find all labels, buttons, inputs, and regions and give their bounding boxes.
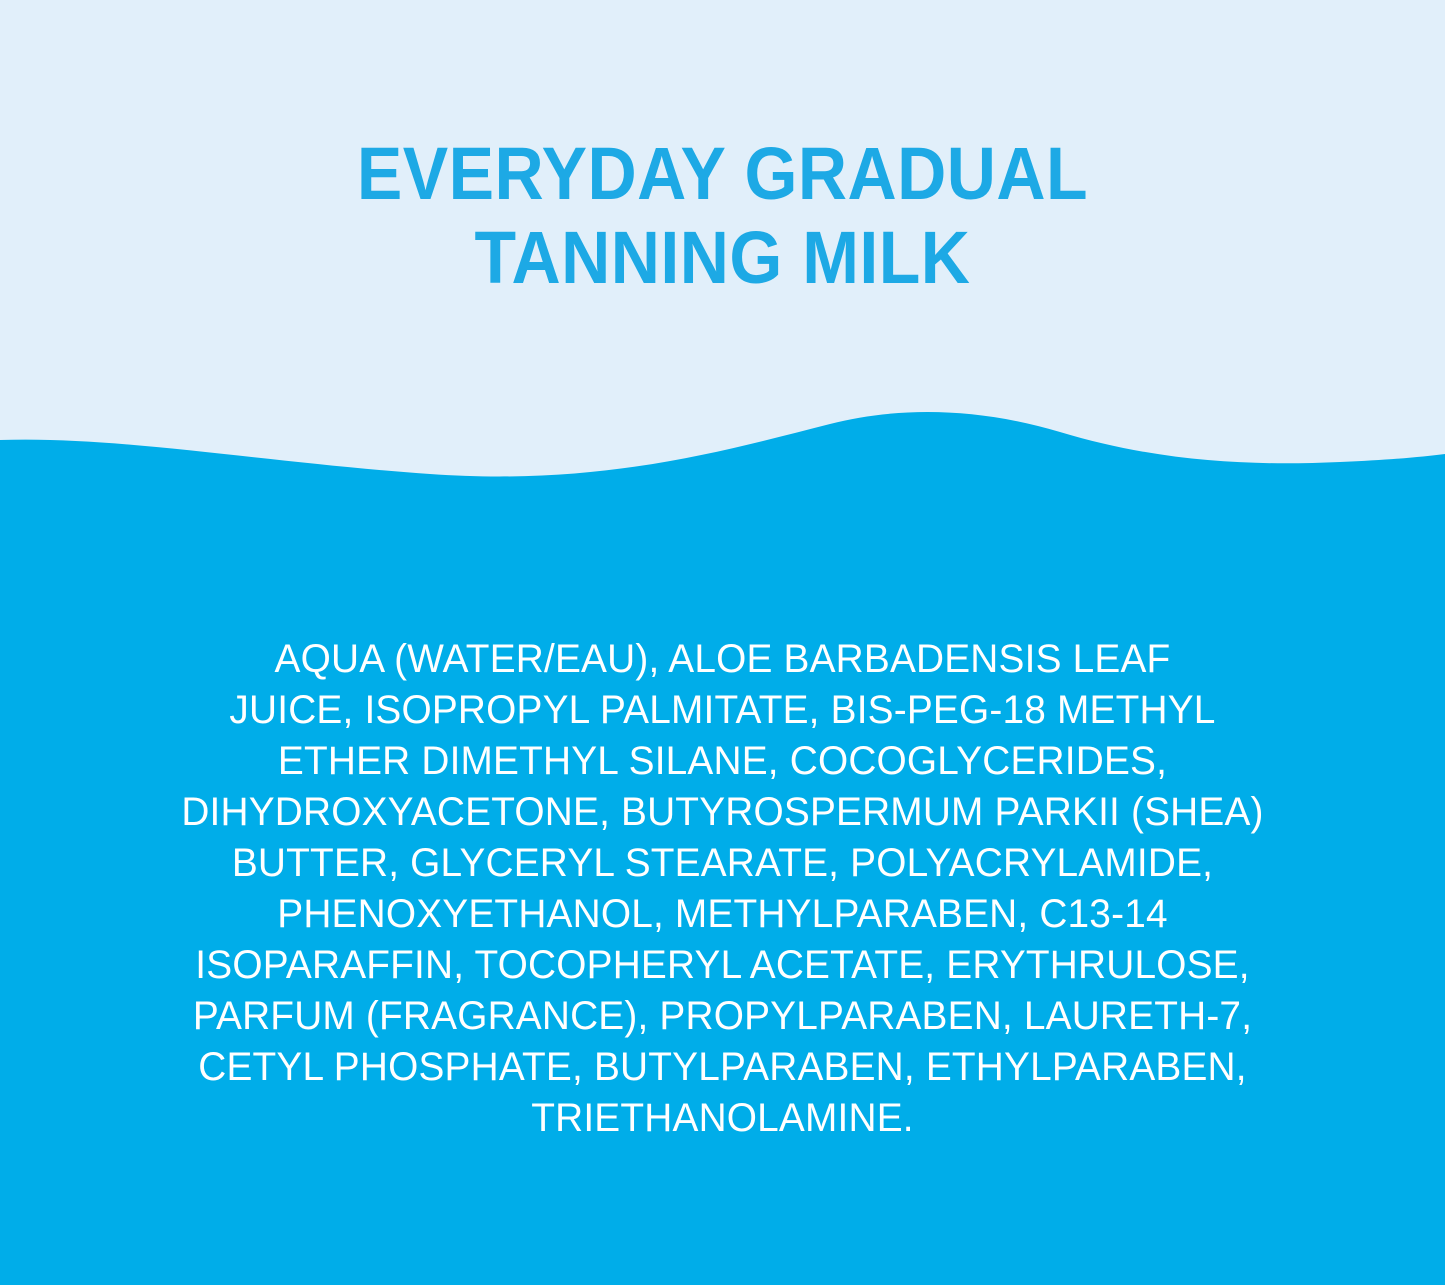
ingredient-line: JUICE, ISOPROPYL PALMITATE, BIS-PEG-18 M… xyxy=(22,685,1424,736)
ingredient-line: PARFUM (FRAGRANCE), PROPYLPARABEN, LAURE… xyxy=(22,991,1424,1042)
ingredient-line: DIHYDROXYACETONE, BUTYROSPERMUM PARKII (… xyxy=(22,787,1424,838)
ingredient-poster: EVERYDAY GRADUAL TANNING MILK AQUA (WATE… xyxy=(0,0,1445,1285)
title-line-1: EVERYDAY GRADUAL xyxy=(58,132,1387,216)
ingredient-line: BUTTER, GLYCERYL STEARATE, POLYACRYLAMID… xyxy=(22,838,1424,889)
ingredient-line: CETYL PHOSPHATE, BUTYLPARABEN, ETHYLPARA… xyxy=(22,1042,1424,1093)
ingredient-line: TRIETHANOLAMINE. xyxy=(22,1093,1424,1144)
ingredient-line: ISOPARAFFIN, TOCOPHERYL ACETATE, ERYTHRU… xyxy=(22,940,1424,991)
page-title: EVERYDAY GRADUAL TANNING MILK xyxy=(0,0,1445,300)
title-line-2: TANNING MILK xyxy=(58,216,1387,300)
ingredient-line: PHENOXYETHANOL, METHYLPARABEN, C13-14 xyxy=(22,889,1424,940)
ingredient-line: ETHER DIMETHYL SILANE, COCOGLYCERIDES, xyxy=(22,736,1424,787)
ingredients-list: AQUA (WATER/EAU), ALOE BARBADENSIS LEAF … xyxy=(0,634,1445,1144)
ingredient-line: AQUA (WATER/EAU), ALOE BARBADENSIS LEAF xyxy=(22,634,1424,685)
